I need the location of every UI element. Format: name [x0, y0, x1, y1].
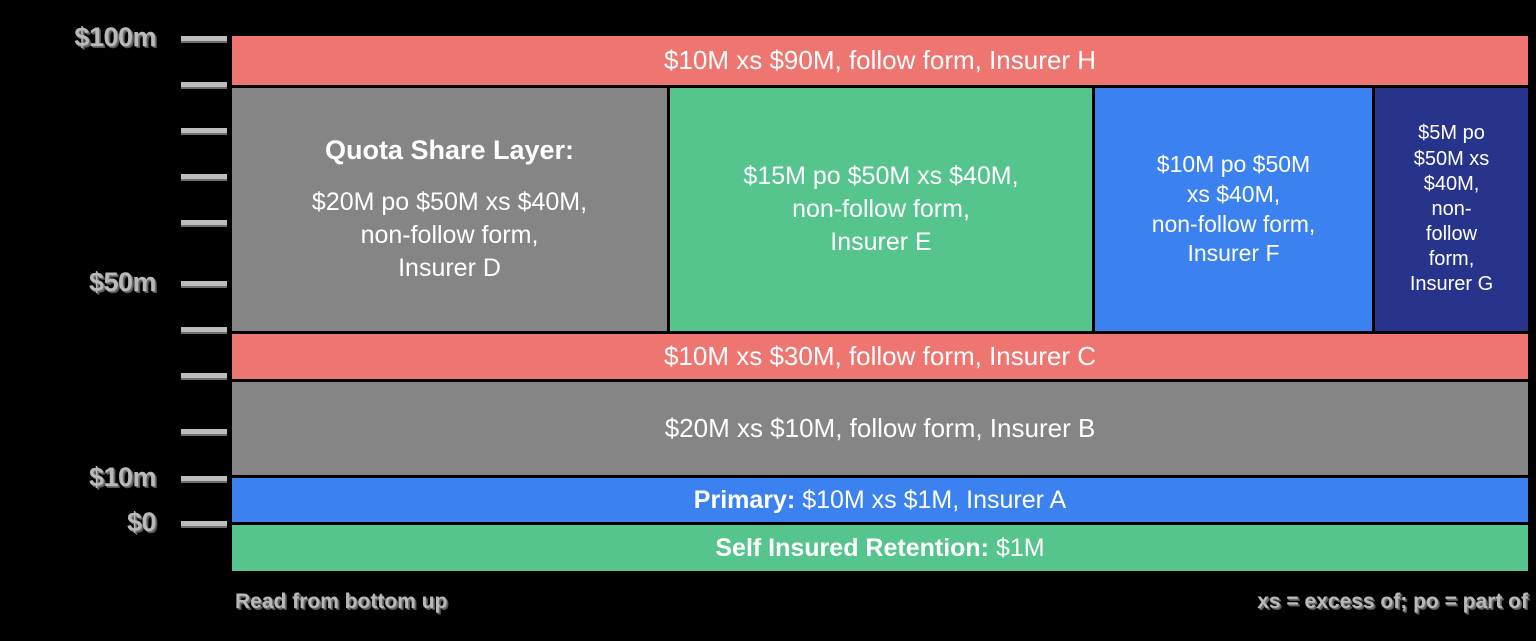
layer-insurer-h[interactable]: $10M xs $90M, follow form, Insurer H [232, 36, 1528, 85]
layer-insurer-f-line3: non-follow form, [1152, 210, 1316, 240]
layer-insurer-f-line1: $10M po $50M [1157, 150, 1310, 180]
layer-insurer-g-line5: follow [1426, 222, 1477, 247]
tower-stack: $10M xs $90M, follow form, Insurer H Quo… [232, 36, 1528, 571]
axis-tick [181, 82, 227, 87]
axis-tick [181, 220, 227, 225]
layer-insurer-g-line3: $40M, [1424, 172, 1480, 197]
layer-insurer-g-line4: non- [1431, 197, 1471, 222]
layer-primary-prefix: Primary: [694, 486, 795, 514]
axis-tick [181, 128, 227, 133]
layer-self-insured-retention[interactable]: Self Insured Retention: $1M [232, 525, 1528, 571]
layer-insurer-e-line2: non-follow form, [792, 193, 970, 226]
layer-insurer-b-label: $20M xs $10M, follow form, Insurer B [657, 413, 1104, 445]
layer-insurer-e[interactable]: $15M po $50M xs $40M, non-follow form, I… [670, 88, 1095, 331]
axis-tick [181, 476, 227, 481]
layer-insurer-h-label: $10M xs $90M, follow form, Insurer H [656, 45, 1104, 77]
insurance-tower-diagram: $100m $50m $10m $0 $10M xs $90M, follow … [0, 0, 1536, 641]
layer-insurer-c[interactable]: $10M xs $30M, follow form, Insurer C [232, 334, 1528, 379]
layer-insurer-g[interactable]: $5M po $50M xs $40M, non- follow form, I… [1375, 88, 1528, 331]
layer-insurer-d-line3: Insurer D [398, 252, 501, 285]
quota-share-title: Quota Share Layer: [325, 134, 574, 166]
axis-label-10m: $10m [89, 462, 156, 493]
footer-note-read-direction: Read from bottom up [235, 590, 447, 614]
layer-insurer-f-line4: Insurer F [1187, 239, 1279, 269]
layer-insurer-g-line2: $50M xs [1414, 147, 1490, 172]
layer-sir-amount: $1M [989, 534, 1045, 562]
layer-insurer-g-line6: form, [1429, 247, 1475, 272]
layer-insurer-d[interactable]: Quota Share Layer: $20M po $50M xs $40M,… [232, 88, 670, 331]
layer-primary-detail: $10M xs $1M, Insurer A [795, 486, 1066, 514]
layer-insurer-c-label: $10M xs $30M, follow form, Insurer C [656, 341, 1104, 373]
layer-insurer-g-line7: Insurer G [1410, 272, 1493, 297]
axis-tick [181, 174, 227, 179]
layer-primary-insurer-a[interactable]: Primary: $10M xs $1M, Insurer A [232, 478, 1528, 522]
axis-tick [181, 36, 227, 41]
axis-tick [181, 327, 227, 332]
layer-insurer-f-line2: xs $40M, [1187, 180, 1280, 210]
layer-insurer-d-line1: $20M po $50M xs $40M, [312, 186, 587, 219]
layer-insurer-b[interactable]: $20M xs $10M, follow form, Insurer B [232, 382, 1528, 475]
layer-insurer-f[interactable]: $10M po $50M xs $40M, non-follow form, I… [1095, 88, 1375, 331]
axis-tick [181, 429, 227, 434]
layer-sir-text: Self Insured Retention: $1M [707, 533, 1052, 564]
axis-label-100m: $100m [74, 22, 156, 53]
layer-insurer-e-line3: Insurer E [830, 226, 931, 259]
quota-share-layer: Quota Share Layer: $20M po $50M xs $40M,… [232, 88, 1528, 331]
layer-insurer-e-line1: $15M po $50M xs $40M, [743, 160, 1018, 193]
axis-tick [181, 373, 227, 378]
footer-note-abbreviations: xs = excess of; po = part of [1257, 590, 1528, 614]
axis-tick [181, 521, 227, 526]
axis-label-0: $0 [127, 507, 156, 538]
axis-tick [181, 281, 227, 286]
layer-insurer-g-line1: $5M po [1418, 121, 1485, 146]
axis-label-50m: $50m [89, 267, 156, 298]
layer-sir-prefix: Self Insured Retention: [715, 534, 989, 562]
layer-insurer-d-line2: non-follow form, [361, 219, 539, 252]
layer-primary-text: Primary: $10M xs $1M, Insurer A [686, 485, 1074, 516]
